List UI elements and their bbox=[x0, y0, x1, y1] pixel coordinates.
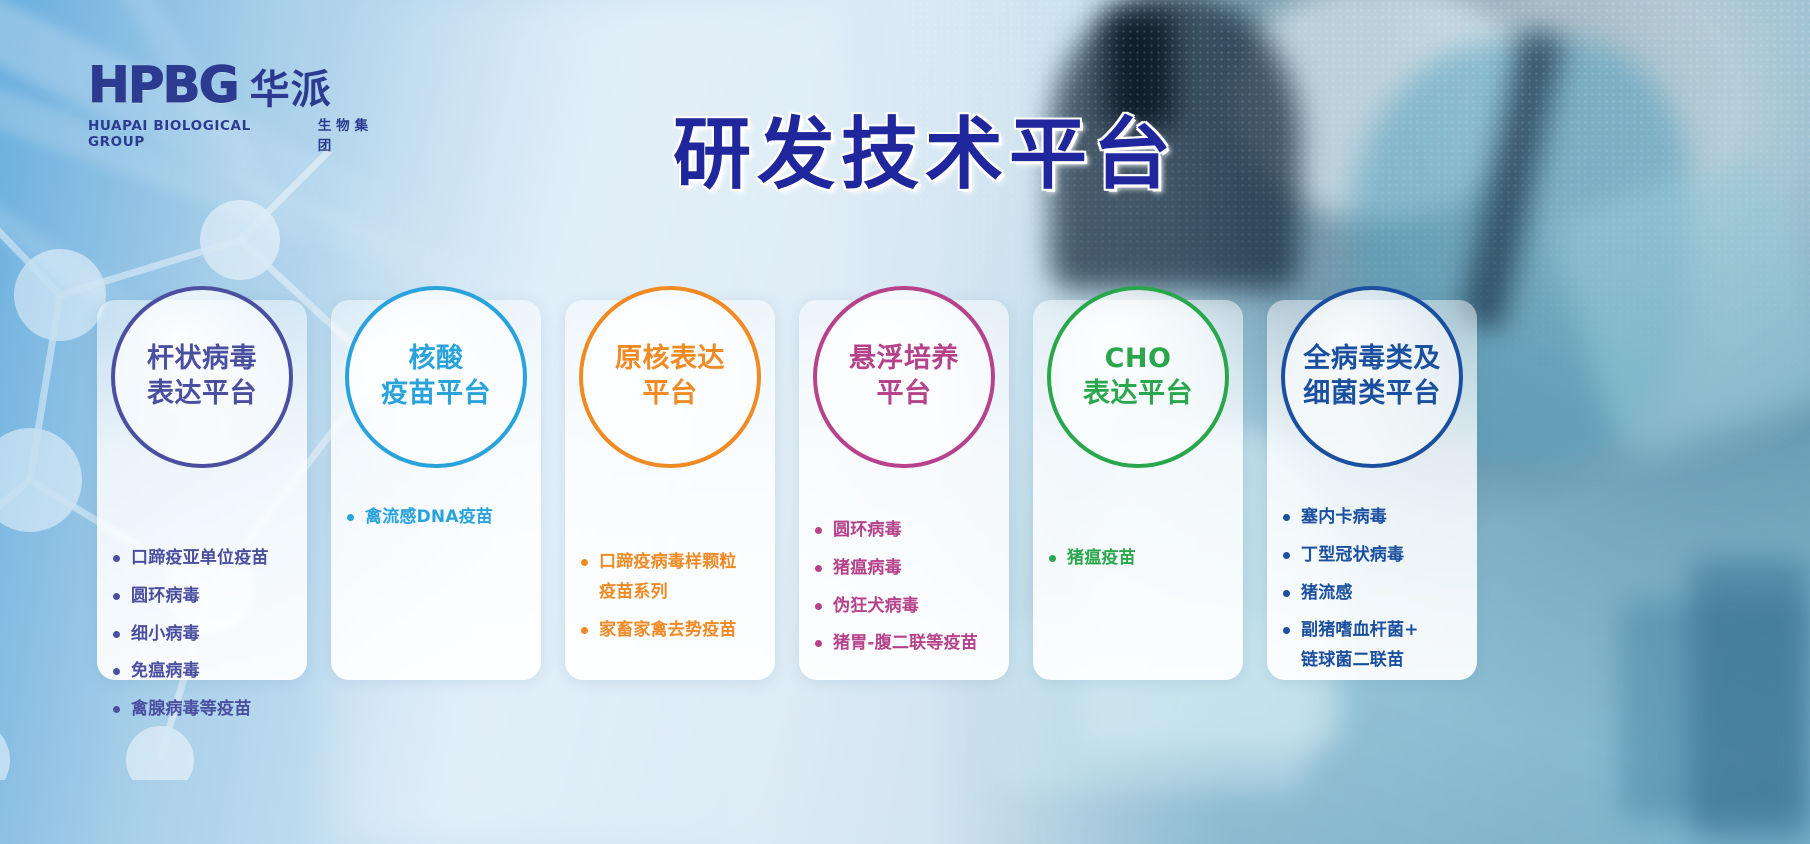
platform-title-line: 平台 bbox=[615, 377, 725, 412]
list-item: 猪瘟病毒 bbox=[815, 556, 997, 582]
platform-title-baculovirus: 杆状病毒表达平台 bbox=[147, 342, 257, 411]
platform-card-cho-expression[interactable]: CHO表达平台猪瘟疫苗 bbox=[1033, 300, 1243, 680]
list-item: 丁型冠状病毒 bbox=[1283, 543, 1465, 569]
platform-card-whole-virus-bacteria[interactable]: 全病毒类及细菌类平台塞内卡病毒丁型冠状病毒猪流感副猪嗜血杆菌+链球菌二联苗 bbox=[1267, 300, 1477, 680]
poster-stage: HPBG 华派 HUAPAI BIOLOGICAL GROUP 生物集团 研发技… bbox=[0, 0, 1810, 844]
platform-title-line: 杆状病毒 bbox=[147, 342, 257, 377]
platform-title-nucleic-acid: 核酸疫苗平台 bbox=[381, 342, 491, 411]
platform-title-line: 悬浮培养 bbox=[849, 342, 959, 377]
platform-title-line: 全病毒类及 bbox=[1303, 342, 1441, 377]
list-item: 疫苗系列 bbox=[581, 580, 763, 606]
list-item: 口蹄疫病毒样颗粒 bbox=[581, 550, 763, 576]
platform-bubble-prokaryotic: 原核表达平台 bbox=[579, 286, 761, 468]
platform-bullet-list-whole-virus-bacteria: 塞内卡病毒丁型冠状病毒猪流感副猪嗜血杆菌+链球菌二联苗 bbox=[1267, 505, 1477, 686]
list-item: 细小病毒 bbox=[113, 622, 295, 648]
platform-bullet-list-baculovirus: 口蹄疫亚单位疫苗圆环病毒细小病毒免瘟病毒禽腺病毒等疫苗 bbox=[97, 546, 307, 735]
list-item: 伪狂犬病毒 bbox=[815, 594, 997, 620]
page-title: 研发技术平台 bbox=[0, 92, 1810, 204]
platform-title-line: 表达平台 bbox=[147, 377, 257, 412]
platform-title-line: 疫苗平台 bbox=[381, 377, 491, 412]
platform-bubble-nucleic-acid: 核酸疫苗平台 bbox=[345, 286, 527, 468]
platform-bullet-list-cho-expression: 猪瘟疫苗 bbox=[1033, 546, 1243, 584]
platform-bullet-list-suspension-culture: 圆环病毒猪瘟病毒伪狂犬病毒猪胃-腹二联等疫苗 bbox=[799, 518, 1009, 669]
platform-title-suspension-culture: 悬浮培养平台 bbox=[849, 342, 959, 411]
list-item: 猪瘟疫苗 bbox=[1049, 546, 1231, 572]
platform-bubble-suspension-culture: 悬浮培养平台 bbox=[813, 286, 995, 468]
platform-card-prokaryotic[interactable]: 原核表达平台口蹄疫病毒样颗粒疫苗系列家畜家禽去势疫苗 bbox=[565, 300, 775, 680]
platform-title-line: 原核表达 bbox=[615, 342, 725, 377]
platform-bubble-baculovirus: 杆状病毒表达平台 bbox=[111, 286, 293, 468]
list-item: 免瘟病毒 bbox=[113, 659, 295, 685]
platform-card-suspension-culture[interactable]: 悬浮培养平台圆环病毒猪瘟病毒伪狂犬病毒猪胃-腹二联等疫苗 bbox=[799, 300, 1009, 680]
platform-title-whole-virus-bacteria: 全病毒类及细菌类平台 bbox=[1303, 342, 1441, 411]
list-item: 猪胃-腹二联等疫苗 bbox=[815, 631, 997, 657]
platform-title-line: 表达平台 bbox=[1083, 377, 1193, 412]
platform-bubble-cho-expression: CHO表达平台 bbox=[1047, 286, 1229, 468]
platform-bullet-list-nucleic-acid: 禽流感DNA疫苗 bbox=[331, 505, 541, 543]
platform-title-line: 平台 bbox=[849, 377, 959, 412]
list-item: 家畜家禽去势疫苗 bbox=[581, 618, 763, 644]
list-item: 塞内卡病毒 bbox=[1283, 505, 1465, 531]
list-item: 链球菌二联苗 bbox=[1283, 648, 1465, 674]
list-item: 口蹄疫亚单位疫苗 bbox=[113, 546, 295, 572]
platform-bubble-whole-virus-bacteria: 全病毒类及细菌类平台 bbox=[1281, 286, 1463, 468]
platform-title-line: 核酸 bbox=[381, 342, 491, 377]
platform-card-baculovirus[interactable]: 杆状病毒表达平台口蹄疫亚单位疫苗圆环病毒细小病毒免瘟病毒禽腺病毒等疫苗 bbox=[97, 300, 307, 680]
list-item: 猪流感 bbox=[1283, 581, 1465, 607]
platform-title-line: CHO bbox=[1083, 342, 1193, 377]
list-item: 圆环病毒 bbox=[815, 518, 997, 544]
platform-card-nucleic-acid[interactable]: 核酸疫苗平台禽流感DNA疫苗 bbox=[331, 300, 541, 680]
list-item: 禽流感DNA疫苗 bbox=[347, 505, 529, 531]
platform-title-prokaryotic: 原核表达平台 bbox=[615, 342, 725, 411]
list-item: 副猪嗜血杆菌+ bbox=[1283, 618, 1465, 644]
platform-title-cho-expression: CHO表达平台 bbox=[1083, 342, 1193, 411]
platform-bullet-list-prokaryotic: 口蹄疫病毒样颗粒疫苗系列家畜家禽去势疫苗 bbox=[565, 550, 775, 655]
list-item: 禽腺病毒等疫苗 bbox=[113, 697, 295, 723]
platform-title-line: 细菌类平台 bbox=[1303, 377, 1441, 412]
tube-rack-shape bbox=[1690, 560, 1810, 840]
list-item: 圆环病毒 bbox=[113, 584, 295, 610]
platform-card-list: 杆状病毒表达平台口蹄疫亚单位疫苗圆环病毒细小病毒免瘟病毒禽腺病毒等疫苗核酸疫苗平… bbox=[97, 300, 1477, 680]
